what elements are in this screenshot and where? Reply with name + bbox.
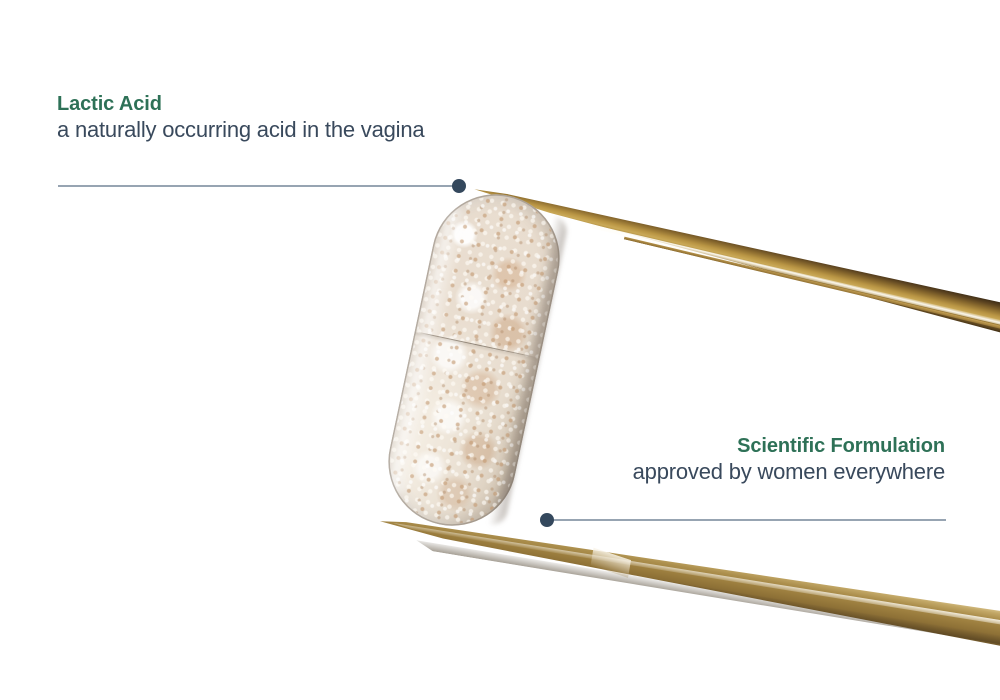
tweezer-upper-body (470, 176, 1000, 336)
connector-line (552, 519, 946, 521)
connector-line (58, 185, 454, 187)
capsule-body (376, 182, 571, 537)
tweezer-lower-body (376, 506, 1000, 655)
callout-scientific-formulation-title: Scientific Formulation (633, 434, 945, 458)
tweezer-upper-arm (470, 176, 1000, 336)
connector-dot-icon (452, 179, 466, 193)
callout-scientific-formulation: Scientific Formulation approved by women… (633, 434, 945, 486)
tweezer-lower-highlight (379, 516, 1000, 632)
capsule-gloss-highlight (388, 205, 468, 495)
tweezer-lower-arm (376, 506, 1000, 655)
promo-graphic-canvas: Lactic Acid a naturally occurring acid i… (0, 0, 1000, 700)
callout-lactic-acid-connector (58, 178, 466, 194)
capsule-seam-line (415, 331, 538, 358)
capsule-rim (376, 182, 571, 537)
supplement-capsule (376, 182, 571, 537)
capsule-seam-shadow (415, 332, 539, 362)
callout-lactic-acid-title: Lactic Acid (57, 92, 424, 116)
callout-lactic-acid: Lactic Acid a naturally occurring acid i… (57, 92, 424, 144)
callout-lactic-acid-subtitle: a naturally occurring acid in the vagina (57, 116, 424, 144)
tweezer-upper-highlight (592, 222, 1000, 330)
callout-scientific-formulation-connector (540, 512, 946, 528)
tweezer-lower-notch (590, 548, 630, 578)
tweezer-upper-edge (624, 235, 1000, 333)
connector-dot-icon (540, 513, 554, 527)
callout-scientific-formulation-subtitle: approved by women everywhere (633, 458, 945, 486)
tweezer-lower-shadow (415, 538, 1000, 650)
capsule-texture-speckles (379, 185, 569, 536)
capsule-shadow-edge (488, 215, 569, 527)
